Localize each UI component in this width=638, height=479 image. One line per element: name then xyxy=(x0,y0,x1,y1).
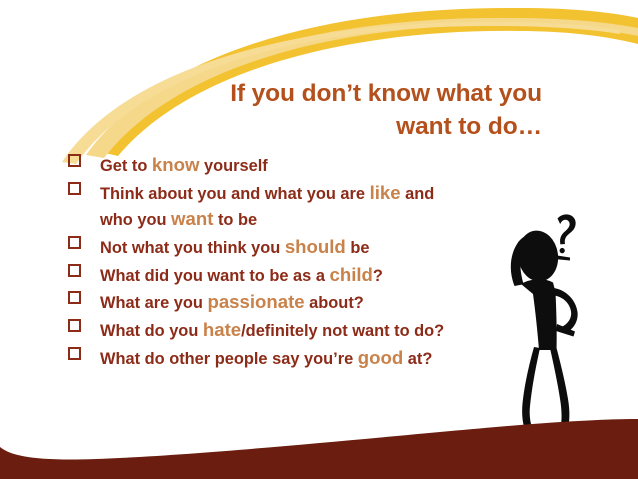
figure-raised-arm xyxy=(511,235,538,286)
bullet-item: What are you passionate about? xyxy=(68,289,488,316)
bullet-text-segment: ? xyxy=(373,267,383,285)
bullet-text-segment: Not what you think you xyxy=(100,239,285,257)
checkbox-square-bullet-icon xyxy=(68,236,81,249)
figure-right-leg xyxy=(550,346,569,432)
bullet-item: Get to know yourself xyxy=(68,152,488,179)
checkbox-square-bullet-icon xyxy=(68,347,81,360)
bullet-text-segment: Think about you and what you are xyxy=(100,185,370,203)
slide-title: If you don’t know what you want to do… xyxy=(150,78,542,143)
bullet-text-line-1: What did you want to be as a child? xyxy=(100,267,383,285)
bullet-text-segment: What do other people say you’re xyxy=(100,350,358,368)
bullet-text-segment: What are you xyxy=(100,294,207,312)
checkbox-square-bullet-icon xyxy=(68,291,81,304)
bullet-list: Get to know yourselfThink about you and … xyxy=(68,152,488,372)
checkbox-square-bullet-icon xyxy=(68,264,81,277)
bullet-item: Think about you and what you are like an… xyxy=(68,180,488,233)
highlighted-word: passionate xyxy=(207,291,304,312)
bullet-text-segment: yourself xyxy=(199,157,267,175)
highlighted-word: good xyxy=(358,347,403,368)
bullet-item: What do other people say you’re good at? xyxy=(68,345,488,372)
bullet-text-segment: and xyxy=(401,185,435,203)
checkbox-square-bullet-icon xyxy=(68,319,81,332)
figure-right-foot xyxy=(558,428,580,439)
confused-stick-figure-illustration xyxy=(488,208,638,440)
bullet-text-segment: to be xyxy=(213,211,257,229)
figure-nose xyxy=(554,255,570,261)
bullet-text-segment: What did you want to be as a xyxy=(100,267,330,285)
highlighted-word: like xyxy=(370,182,401,203)
figure-hip-arm xyxy=(554,288,578,334)
bullet-item: What do you hate/definitely not want to … xyxy=(68,317,488,344)
bullet-text-line-1: What do other people say you’re good at? xyxy=(100,350,432,368)
bullet-text-segment: about? xyxy=(305,294,364,312)
title-line-2: want to do… xyxy=(150,111,542,144)
bullet-text-line-2: who you want to be xyxy=(100,206,488,233)
highlighted-word: child xyxy=(330,264,373,285)
bullet-text-segment: /definitely not want to do? xyxy=(241,322,444,340)
bullet-text-segment: be xyxy=(346,239,370,257)
bullet-text-line-1: What are you passionate about? xyxy=(100,294,364,312)
figure-left-leg xyxy=(522,347,540,433)
bullet-text-segment: Get to xyxy=(100,157,152,175)
bottom-wave-decoration xyxy=(0,389,638,479)
wave-shape xyxy=(0,419,638,479)
figure-elbow xyxy=(556,324,575,337)
bullet-text-segment: at? xyxy=(403,350,432,368)
presentation-slide: If you don’t know what you want to do… G… xyxy=(0,0,638,479)
checkbox-square-bullet-icon xyxy=(68,154,81,167)
bullet-item: Not what you think you should be xyxy=(68,234,488,261)
figure-hand xyxy=(525,232,541,247)
question-mark-icon xyxy=(558,214,576,253)
highlighted-word: know xyxy=(152,154,200,175)
bullet-text-line-1: What do you hate/definitely not want to … xyxy=(100,322,444,340)
figure-head xyxy=(515,228,562,284)
bullet-text-line-1: Get to know yourself xyxy=(100,157,268,175)
highlighted-word: want xyxy=(171,208,213,229)
bullet-item: What did you want to be as a child? xyxy=(68,262,488,289)
bullet-text-line-1: Think about you and what you are like an… xyxy=(100,185,434,203)
bullet-text-segment: What do you xyxy=(100,322,203,340)
highlighted-word: hate xyxy=(203,319,241,340)
bullet-text-segment: who you xyxy=(100,211,171,229)
figure-left-foot xyxy=(513,427,535,438)
title-line-1: If you don’t know what you xyxy=(150,78,542,111)
figure-torso xyxy=(521,279,557,350)
checkbox-square-bullet-icon xyxy=(68,182,81,195)
highlighted-word: should xyxy=(285,236,346,257)
bullet-text-line-1: Not what you think you should be xyxy=(100,239,369,257)
